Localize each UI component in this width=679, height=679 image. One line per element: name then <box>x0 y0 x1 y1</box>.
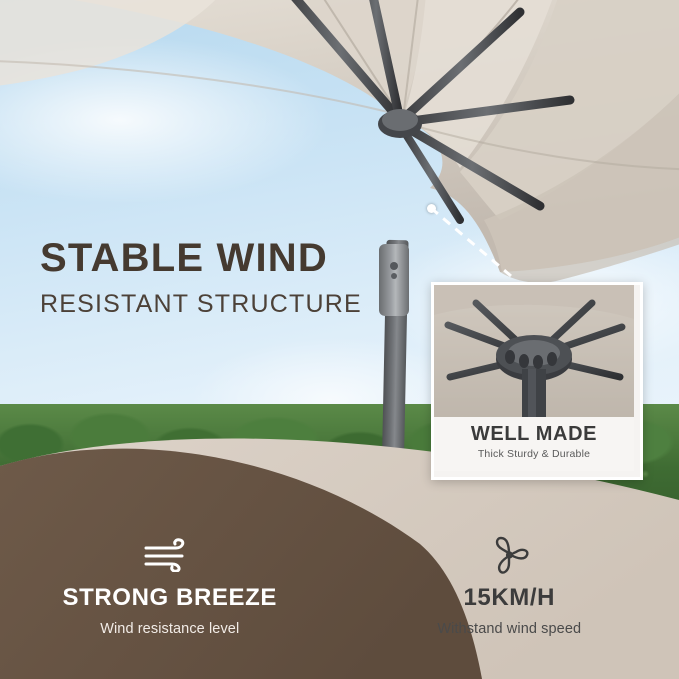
pole-collar <box>379 244 409 316</box>
headline-line-2: RESISTANT STRUCTURE <box>40 292 362 317</box>
feature-subtitle: Withstand wind speed <box>340 621 679 637</box>
feature-strong-breeze: STRONG BREEZE Wind resistance level <box>0 534 340 679</box>
inset-subtitle: Thick Sturdy & Durable <box>434 448 634 460</box>
pole-button <box>390 262 398 270</box>
inset-photo <box>434 285 634 417</box>
headline-block: STABLE WIND RESISTANT STRUCTURE <box>40 238 362 317</box>
feature-row: STRONG BREEZE Wind resistance level 15KM… <box>0 534 679 679</box>
inset-caption: WELL MADE Thick Sturdy & Durable <box>434 417 634 471</box>
feature-subtitle: Wind resistance level <box>0 621 340 637</box>
wind-icon <box>0 534 340 576</box>
feature-title: STRONG BREEZE <box>0 584 340 612</box>
headline-line-1: STABLE WIND <box>40 238 362 278</box>
feature-wind-speed: 15KM/H Withstand wind speed <box>340 534 679 679</box>
inset-title: WELL MADE <box>434 423 634 446</box>
inset-callout-card: WELL MADE Thick Sturdy & Durable <box>431 282 643 480</box>
product-infographic: STABLE WIND RESISTANT STRUCTURE <box>0 0 679 679</box>
feature-title: 15KM/H <box>340 584 679 612</box>
fan-icon <box>340 534 679 576</box>
